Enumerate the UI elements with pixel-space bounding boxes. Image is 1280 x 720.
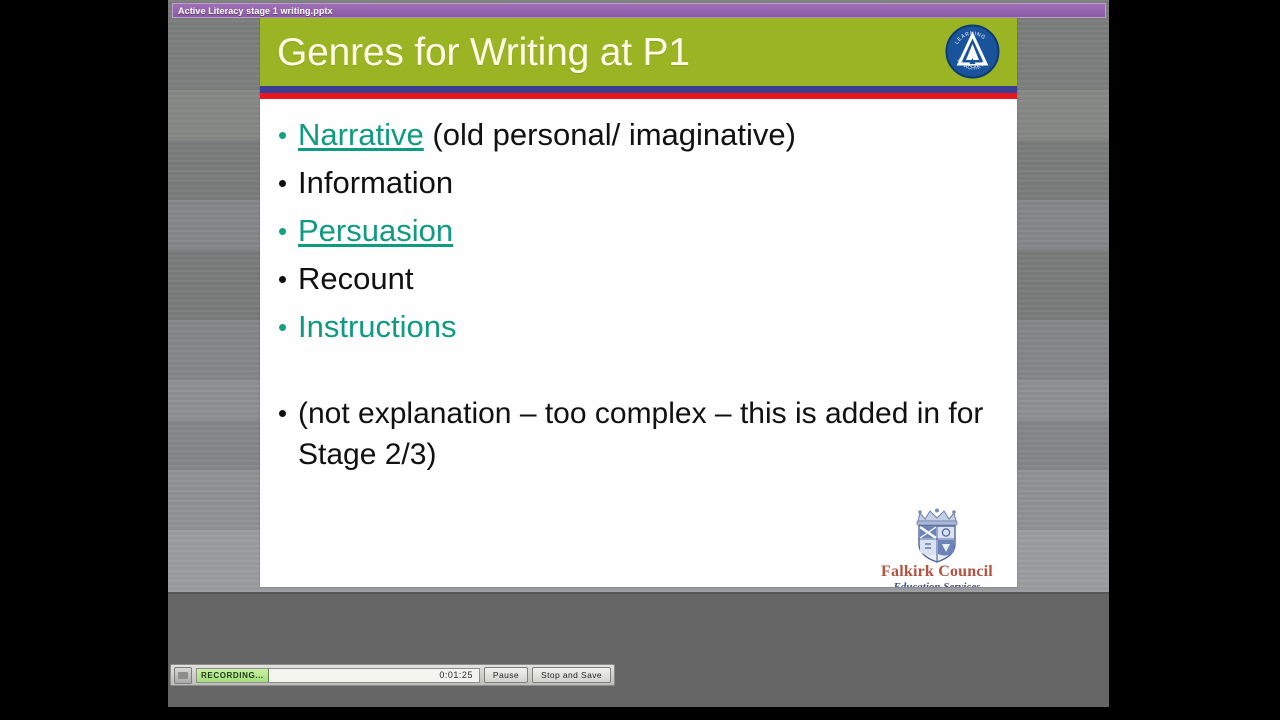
falkirk-council-logo: Falkirk Council Education Services <box>871 508 1003 587</box>
slide-body: Narrative (old personal/ imaginative) In… <box>260 99 1017 587</box>
recording-status-field: RECORDING... 0:01:25 <box>196 668 480 683</box>
window-title-text: Active Literacy stage 1 writing.pptx <box>173 6 333 16</box>
genre-bullet-list: Narrative (old personal/ imaginative) In… <box>260 111 1017 351</box>
falkirk-council-subtitle: Education Services <box>871 581 1003 587</box>
bullet-dot-icon <box>279 180 286 187</box>
recording-elapsed-time: 0:01:25 <box>439 670 479 680</box>
stop-and-save-button[interactable]: Stop and Save <box>532 667 611 683</box>
list-item: Narrative (old personal/ imaginative) <box>270 111 999 159</box>
list-item: Recount <box>270 255 999 303</box>
list-item-text-instructions: Instructions <box>298 309 457 344</box>
falkirk-council-name: Falkirk Council <box>871 564 1003 581</box>
window-titlebar[interactable]: Active Literacy stage 1 writing.pptx <box>172 3 1106 18</box>
letterbox-right <box>1109 0 1280 720</box>
link-persuasion[interactable]: Persuasion <box>298 213 453 248</box>
slide-title: Genres for Writing at P1 <box>260 33 690 72</box>
slide-note-paragraph: (not explanation – too complex – this is… <box>270 393 999 475</box>
bullet-dot-icon <box>279 132 286 139</box>
desktop-taskbar-area <box>168 592 1109 707</box>
screen-capture-viewport: Active Literacy stage 1 writing.pptx Gen… <box>168 0 1109 707</box>
list-item: Persuasion <box>270 207 999 255</box>
falkirk-crest-icon <box>908 508 966 564</box>
list-item-text: (old personal/ imaginative) <box>424 117 796 152</box>
recording-toolbar[interactable]: RECORDING... 0:01:25 Pause Stop and Save <box>170 664 615 686</box>
recording-status-badge: RECORDING... <box>197 669 269 682</box>
list-item-text: Information <box>298 165 453 200</box>
drag-handle-icon[interactable] <box>174 667 192 684</box>
slide-header-band: Genres for Writing at P1 LEARNING <box>260 18 1017 86</box>
link-narrative[interactable]: Narrative <box>298 117 424 152</box>
divider-rule-blue <box>260 86 1017 93</box>
screen: Active Literacy stage 1 writing.pptx Gen… <box>0 0 1280 720</box>
list-item: Instructions <box>270 303 999 351</box>
bullet-dot-icon <box>279 228 286 235</box>
pause-button[interactable]: Pause <box>484 667 528 683</box>
letterbox-bottom <box>0 707 1280 720</box>
list-item: Information <box>270 159 999 207</box>
letterbox-left <box>0 0 168 720</box>
slide-note-text: (not explanation – too complex – this is… <box>298 397 983 471</box>
bullet-dot-icon <box>279 410 286 417</box>
learning-to-achieve-logo-icon: LEARNING TO ACHIEVE <box>945 24 1000 79</box>
list-item-text: Recount <box>298 261 413 296</box>
slide[interactable]: Genres for Writing at P1 LEARNING <box>260 18 1017 587</box>
bullet-dot-icon <box>279 276 286 283</box>
bullet-dot-icon <box>279 324 286 331</box>
